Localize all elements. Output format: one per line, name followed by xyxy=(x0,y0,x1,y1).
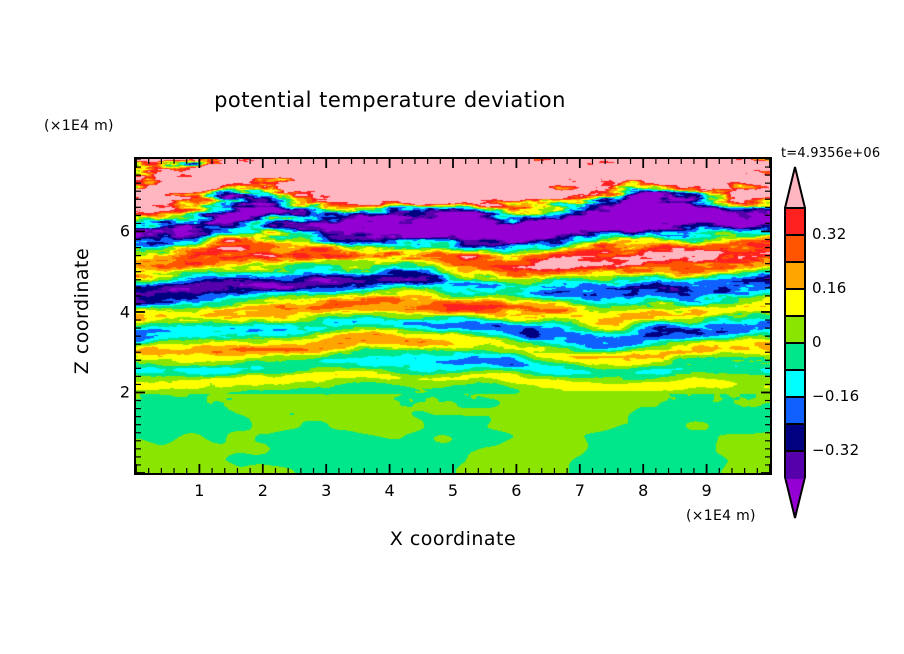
y-tick-label: 2 xyxy=(120,383,130,402)
colorbar-band xyxy=(786,317,804,344)
plot-frame xyxy=(134,157,772,475)
colorbar-band xyxy=(786,425,804,452)
x-tick-label: 1 xyxy=(194,481,204,500)
colorbar xyxy=(784,165,806,520)
x-tick-label: 5 xyxy=(448,481,458,500)
x-tick-label: 7 xyxy=(575,481,585,500)
colorbar-band xyxy=(786,452,804,479)
page-title: potential temperature deviation xyxy=(0,88,780,112)
x-tick-label: 6 xyxy=(511,481,521,500)
figure-canvas: potential temperature deviation (×1E4 m)… xyxy=(0,0,904,654)
y-tick-label: 4 xyxy=(120,302,130,321)
x-tick-label: 2 xyxy=(258,481,268,500)
x-tick-label: 9 xyxy=(702,481,712,500)
colorbar-band xyxy=(786,290,804,317)
x-tick-labels: 123456789 xyxy=(134,481,772,503)
plot-area xyxy=(134,157,772,475)
x-tick-label: 8 xyxy=(638,481,648,500)
colorbar-band xyxy=(786,344,804,371)
colorbar-band xyxy=(786,371,804,398)
colorbar-bands xyxy=(784,207,806,477)
colorbar-tick-label: 0.16 xyxy=(812,279,847,297)
x-axis-label: X coordinate xyxy=(134,528,772,550)
y-tick-labels: 246 xyxy=(96,157,130,475)
colorbar-tick-label: 0.32 xyxy=(812,225,847,243)
colorbar-tick-label: −0.32 xyxy=(812,441,859,459)
x-tick-label: 3 xyxy=(321,481,331,500)
colorbar-band xyxy=(786,209,804,236)
colorbar-band xyxy=(786,263,804,290)
y-axis-label: Z coordinate xyxy=(71,211,93,411)
colorbar-band xyxy=(786,398,804,425)
y-axis-unit-label: (×1E4 m) xyxy=(44,118,114,134)
colorbar-band xyxy=(786,236,804,263)
colorbar-tick-label: −0.16 xyxy=(812,387,859,405)
y-tick-label: 6 xyxy=(120,222,130,241)
x-axis-unit-label: (×1E4 m) xyxy=(686,508,756,524)
timestamp-annotation: t=4.9356e+06 xyxy=(781,146,880,161)
x-tick-label: 4 xyxy=(385,481,395,500)
colorbar-tick-label: 0 xyxy=(812,333,822,351)
colorbar-tick-labels: 0.320.160−0.16−0.32 xyxy=(812,165,892,520)
